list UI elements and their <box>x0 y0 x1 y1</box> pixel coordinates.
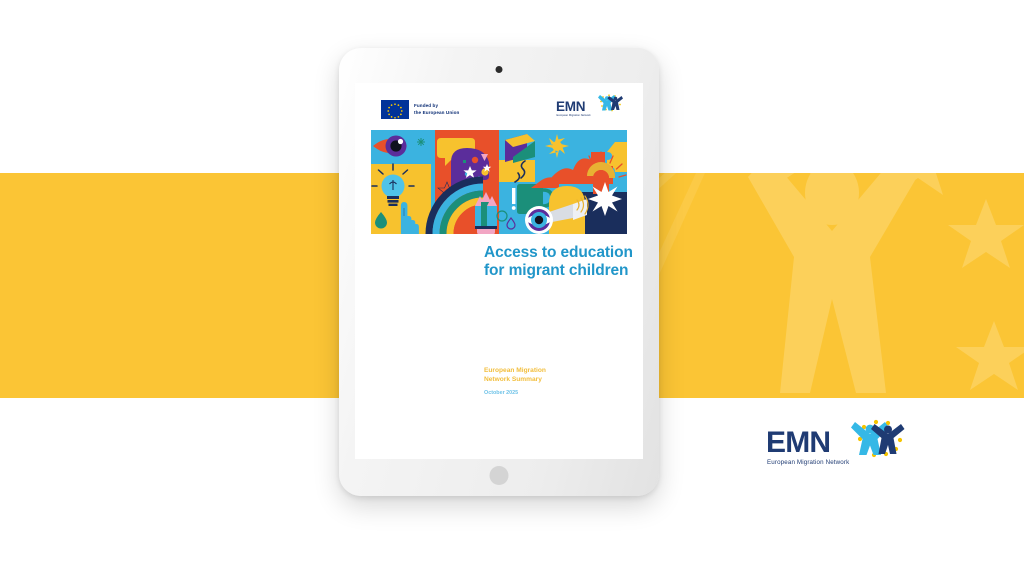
emn-wordmark: EMN <box>766 426 830 459</box>
document-header: Funded by the European Union EMN <box>355 83 643 131</box>
emn-tagline: European Migration Network <box>767 459 850 466</box>
document-date: October 2025 <box>484 390 634 396</box>
document-series-label: European Migration Network Summary <box>484 366 634 385</box>
eu-flag-icon <box>381 100 409 119</box>
emn-brand-logo: EMN European Migration Network <box>764 418 910 474</box>
emn-logo-document: EMN <box>555 94 625 120</box>
promo-banner: Funded by the European Union EMN <box>0 0 1024 576</box>
document-title: Access to education for migrant children <box>484 244 634 281</box>
svg-text:EMN: EMN <box>556 99 585 114</box>
document-cover-page: Funded by the European Union EMN <box>355 83 643 459</box>
cover-illustration <box>371 130 627 234</box>
front-camera-icon <box>496 66 503 73</box>
document-footer: European Migration Network Summary Octob… <box>484 366 634 396</box>
eu-funding-label: Funded by the European Union <box>414 103 459 115</box>
emn-watermark-graphic <box>634 173 1024 398</box>
svg-text:European Migration Network: European Migration Network <box>557 113 592 117</box>
tablet-device: Funded by the European Union EMN <box>339 48 659 496</box>
home-button[interactable] <box>490 466 509 485</box>
eu-funding-logo: Funded by the European Union <box>381 100 459 119</box>
